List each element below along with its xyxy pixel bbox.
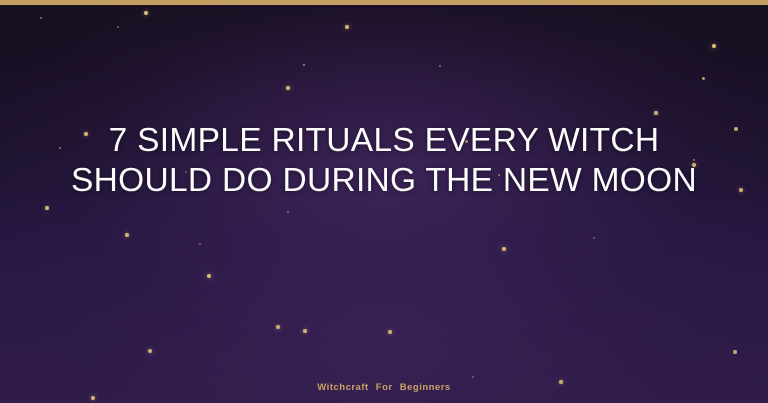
slide-canvas: 7 SIMPLE RITUALS EVERY WITCH SHOULD DO D…: [0, 0, 768, 403]
page-title: 7 SIMPLE RITUALS EVERY WITCH SHOULD DO D…: [0, 121, 768, 201]
night-sky-background: [0, 0, 768, 403]
page-title-line-2: SHOULD DO DURING THE NEW MOON: [0, 161, 768, 201]
footer-brand: Witchcraft For Beginners: [0, 382, 768, 393]
gold-top-rule: [0, 0, 768, 5]
page-title-line-1: 7 SIMPLE RITUALS EVERY WITCH: [0, 121, 768, 161]
